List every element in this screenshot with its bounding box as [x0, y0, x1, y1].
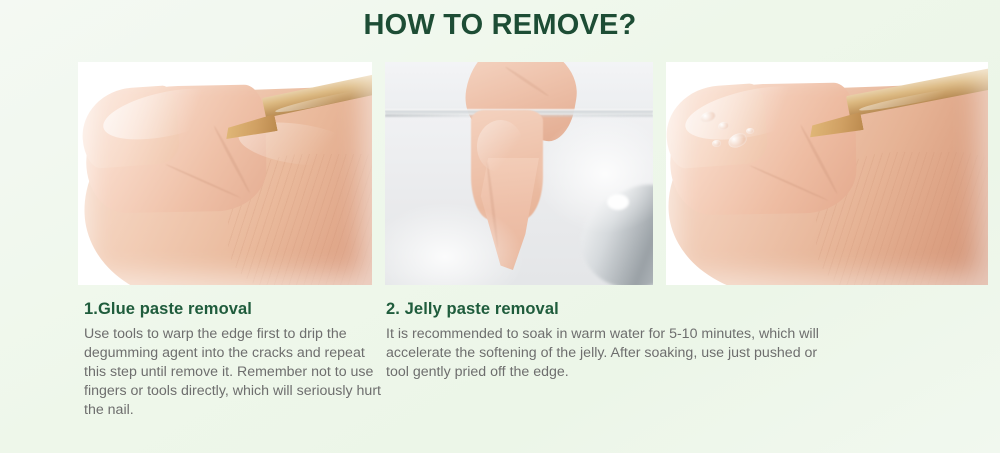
caption-heading: 1.Glue paste removal	[84, 300, 384, 319]
page-title: HOW TO REMOVE?	[0, 9, 1000, 42]
glue-paste-removal-photo	[78, 62, 372, 285]
jelly-paste-removal-photo	[666, 62, 988, 285]
caption-jelly-removal: 2. Jelly paste removal It is recommended…	[386, 300, 836, 382]
water-droplet	[746, 128, 754, 134]
water-droplet	[712, 140, 721, 147]
photo-panel-jelly-removal	[666, 62, 988, 285]
caption-body: Use tools to warp the edge first to drip…	[84, 325, 384, 420]
caption-body: It is recommended to soak in warm water …	[386, 325, 836, 382]
soaking-in-water-photo	[385, 62, 653, 285]
photo-panel-glue-removal	[78, 62, 372, 285]
photo-panel-water-soak	[385, 62, 653, 285]
caption-heading: 2. Jelly paste removal	[386, 300, 836, 319]
caption-glue-removal: 1.Glue paste removal Use tools to warp t…	[84, 300, 384, 420]
metal-highlight	[607, 194, 629, 210]
promo-banner: HOW TO REMOVE?	[0, 0, 1000, 453]
